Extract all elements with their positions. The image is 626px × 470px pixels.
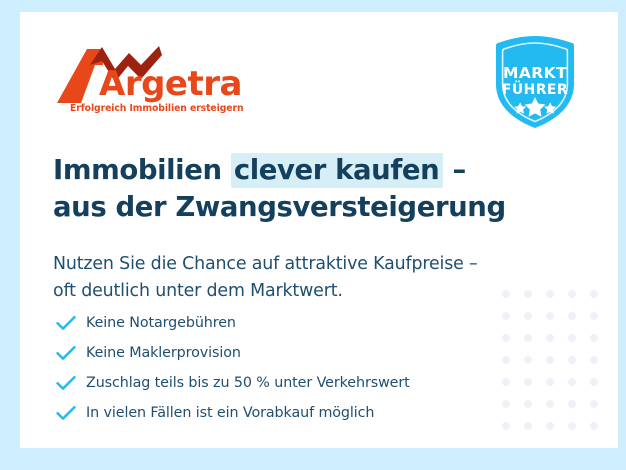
logo-tagline: Erfolgreich Immobilien ersteigern [70,103,243,114]
decorative-dot [568,422,576,430]
benefit-item: In vielen Fällen ist ein Vorabkauf mögli… [56,398,516,428]
decorative-dot [568,290,576,298]
decorative-dot [524,312,532,320]
decorative-dot [568,378,576,386]
check-icon [56,345,86,361]
subheading: Nutzen Sie die Chance auf attraktive Kau… [53,251,543,305]
logo-wordmark: Argetra [99,65,242,103]
decorative-dot [590,400,598,408]
decorative-dot [524,422,532,430]
argetra-logo[interactable]: Argetra Erfolgreich Immobilien ersteiger… [57,45,227,123]
headline-line2: aus der Zwangsversteigerung [53,191,506,223]
decorative-dot [524,356,532,364]
decorative-dot [546,356,554,364]
benefit-label: Zuschlag teils bis zu 50 % unter Verkehr… [86,375,410,391]
benefit-item: Keine Maklerprovision [56,338,516,368]
check-icon [56,405,86,421]
promo-banner: Argetra Erfolgreich Immobilien ersteiger… [0,0,626,470]
decorative-dot [524,400,532,408]
check-icon [56,315,86,331]
decorative-dot [590,334,598,342]
decorative-dot [524,334,532,342]
headline-line1-pre: Immobilien [53,154,231,186]
decorative-dot [546,312,554,320]
benefit-label: Keine Notargebühren [86,315,236,331]
decorative-dot [590,378,598,386]
decorative-dot [590,290,598,298]
headline-line1-post: – [443,154,466,186]
decorative-dot [568,334,576,342]
decorative-dot [590,312,598,320]
market-leader-badge: MARKT FÜHRER [489,34,581,130]
decorative-dot [568,312,576,320]
headline: Immobilien clever kaufen – aus der Zwang… [53,152,533,226]
benefit-label: In vielen Fällen ist ein Vorabkauf mögli… [86,405,374,421]
decorative-dot [590,356,598,364]
decorative-dot [590,422,598,430]
subheading-line1: Nutzen Sie die Chance auf attraktive Kau… [53,254,478,274]
decorative-dot [546,422,554,430]
decorative-dot [546,334,554,342]
decorative-dot [568,400,576,408]
shield-icon: MARKT FÜHRER [489,34,581,130]
badge-line-1: MARKT [503,64,567,82]
headline-highlight: clever kaufen [231,153,444,188]
check-icon [56,375,86,391]
benefit-label: Keine Maklerprovision [86,345,241,361]
decorative-dot [568,356,576,364]
subheading-line2: oft deutlich unter dem Marktwert. [53,281,343,301]
banner-content-area: Argetra Erfolgreich Immobilien ersteiger… [20,12,618,448]
benefit-item: Zuschlag teils bis zu 50 % unter Verkehr… [56,368,516,398]
benefit-item: Keine Notargebühren [56,308,516,338]
decorative-dot [546,290,554,298]
badge-line-2: FÜHRER [502,80,568,98]
benefits-list: Keine NotargebührenKeine Maklerprovision… [56,308,516,428]
decorative-dot [546,378,554,386]
decorative-dot-grid [502,290,612,444]
decorative-dot [524,378,532,386]
decorative-dot [546,400,554,408]
